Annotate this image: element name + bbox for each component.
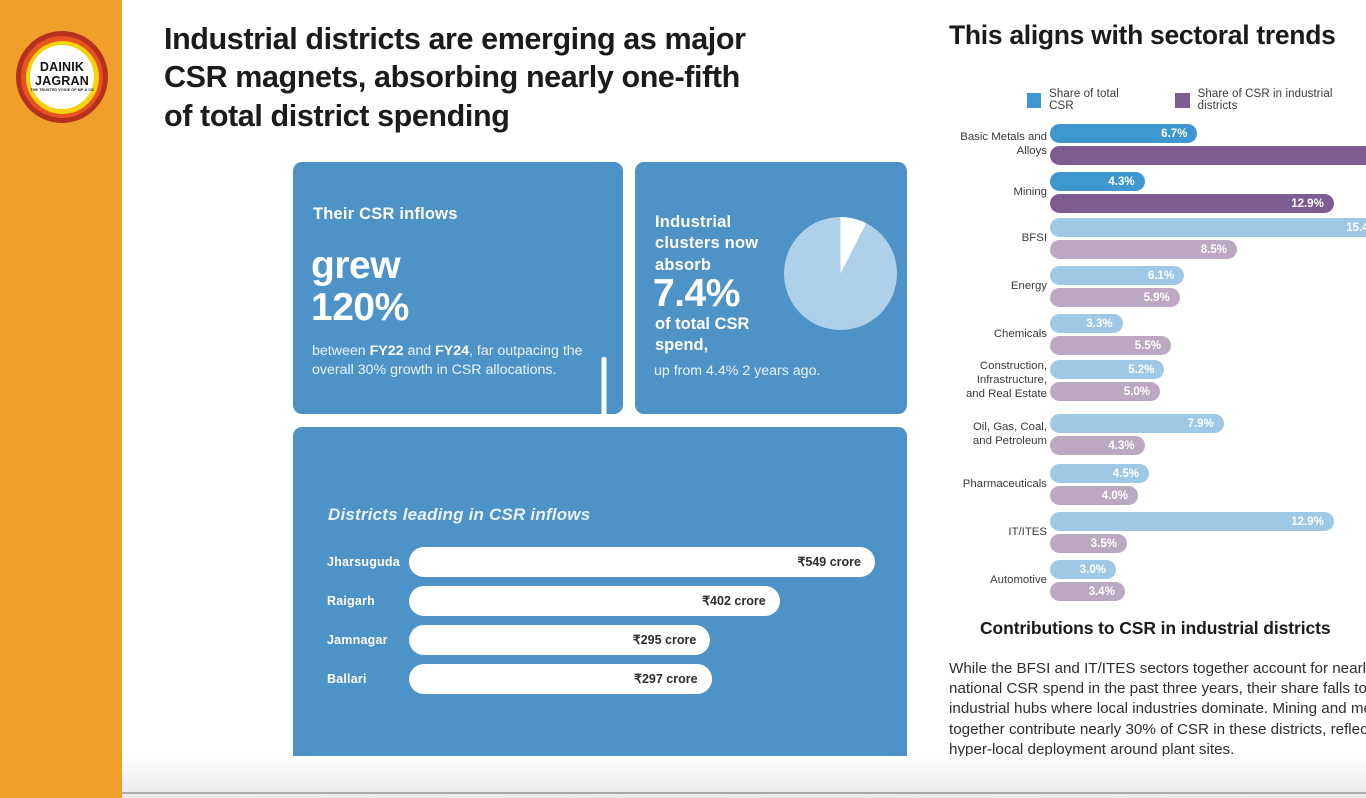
district-name: Jamnagar — [327, 633, 413, 647]
bar-total-csr: 6.7% — [1050, 124, 1197, 143]
legend-swatch-total-csr — [1027, 93, 1041, 108]
bar-value-label: 3.0% — [1080, 564, 1116, 576]
bar-value-label: 12.9% — [1291, 198, 1334, 210]
sector-group: Oil, Gas, Coal,and Petroleum7.9%4.3% — [949, 414, 1366, 458]
bar-industrial-csr: 3.4% — [1050, 582, 1125, 601]
sector-bars: 3.3%5.5% — [1050, 314, 1171, 358]
sector-label: Construction,Infrastructure,and Real Est… — [949, 360, 1047, 401]
bar-industrial-csr: 5.0% — [1050, 382, 1160, 401]
growth-foot-mid: and — [404, 343, 436, 359]
legend-item: Share of total CSR — [1027, 88, 1141, 112]
growth-fy-start: FY22 — [370, 343, 404, 359]
bar-industrial-csr: 8.5% — [1050, 240, 1237, 259]
district-row: Raigarh₹402 crore — [293, 581, 907, 620]
growth-foot-pre: between — [312, 343, 370, 359]
sector-bars: 4.3%12.9% — [1050, 172, 1334, 216]
card-csr-absorb: Industrial clusters now absorb 7.4% of t… — [635, 162, 907, 414]
bar-value-label: 12.9% — [1291, 516, 1334, 528]
growth-word-grew: grew — [311, 244, 400, 287]
district-name: Jharsuguda — [327, 555, 413, 569]
bar-value-label: 15.4% — [1346, 222, 1366, 234]
section-title-sectoral: This aligns with sectoral trends — [949, 20, 1336, 51]
district-bar: ₹295 crore — [409, 625, 710, 655]
card-csr-growth: Their CSR inflows grew 120% between FY22… — [293, 162, 623, 414]
brand-rail: DAINIK JAGRAN THE TRUSTED VOICE OF MP & … — [0, 0, 122, 798]
infographic-slide: DAINIK JAGRAN THE TRUSTED VOICE OF MP & … — [0, 0, 1366, 798]
districts-title: Districts leading in CSR inflows — [328, 505, 590, 525]
district-bar: ₹549 crore — [409, 547, 875, 577]
sector-label: Mining — [949, 186, 1047, 200]
sector-bars: 6.7%17.5% — [1050, 124, 1366, 168]
logo-ring-orange: DAINIK JAGRAN THE TRUSTED VOICE OF MP & … — [21, 36, 103, 118]
growth-lead: Their CSR inflows — [313, 204, 458, 225]
bar-value-label: 7.9% — [1188, 418, 1224, 430]
sector-bars: 6.1%5.9% — [1050, 266, 1184, 310]
sector-label: IT/ITES — [949, 526, 1047, 540]
logo-tagline: THE TRUSTED VOICE OF MP & CG — [30, 89, 93, 93]
legend-label: Share of CSR in industrial districts — [1198, 88, 1366, 112]
absorb-value: 7.4% — [653, 274, 740, 313]
sector-bars: 15.4%8.5% — [1050, 218, 1366, 262]
sector-bars: 3.0%3.4% — [1050, 560, 1125, 604]
bar-value-label: 4.3% — [1108, 176, 1144, 188]
bar-total-csr: 6.1% — [1050, 266, 1184, 285]
bar-value-label: 6.1% — [1148, 270, 1184, 282]
bar-value-label: 8.5% — [1201, 244, 1237, 256]
bar-industrial-csr: 5.5% — [1050, 336, 1171, 355]
bar-value-label: 6.7% — [1161, 128, 1197, 140]
bar-value-label: 4.5% — [1113, 468, 1149, 480]
bar-industrial-csr: 4.3% — [1050, 436, 1145, 455]
districts-bar-list: Jharsuguda₹549 croreRaigarh₹402 croreJam… — [293, 542, 907, 698]
slide-bottom-rule — [122, 792, 1366, 794]
bar-value-label: 3.5% — [1091, 538, 1127, 550]
legend-swatch-industrial-csr — [1175, 93, 1189, 108]
sector-label: Energy — [949, 280, 1047, 294]
bar-value-label: 5.2% — [1128, 364, 1164, 376]
district-row: Jharsuguda₹549 crore — [293, 542, 907, 581]
sector-group: Construction,Infrastructure,and Real Est… — [949, 360, 1366, 404]
sector-group: Pharmaceuticals4.5%4.0% — [949, 464, 1366, 508]
slide-canvas: Industrial districts are emerging as maj… — [122, 0, 1366, 798]
sector-bars: 5.2%5.0% — [1050, 360, 1164, 404]
sector-label: Basic Metals andAlloys — [949, 131, 1047, 158]
logo-core: DAINIK JAGRAN THE TRUSTED VOICE OF MP & … — [30, 45, 94, 109]
sector-group: Basic Metals andAlloys6.7%17.5% — [949, 124, 1366, 168]
card-districts: Districts leading in CSR inflows Jharsug… — [293, 427, 907, 772]
logo-text-line2: JAGRAN — [35, 75, 89, 88]
bar-total-csr: 15.4% — [1050, 218, 1366, 237]
growth-headline: grew 120% — [311, 245, 409, 329]
absorb-footnote: up from 4.4% 2 years ago. — [654, 362, 894, 381]
bar-total-csr: 3.3% — [1050, 314, 1123, 333]
district-value: ₹297 crore — [634, 671, 712, 686]
bar-total-csr: 4.3% — [1050, 172, 1145, 191]
bar-value-label: 5.9% — [1144, 292, 1180, 304]
contributions-body: While the BFSI and IT/ITES sectors toget… — [949, 659, 1366, 760]
chart-legend: Share of total CSRShare of CSR in indust… — [1027, 88, 1366, 112]
sector-label: Oil, Gas, Coal,and Petroleum — [949, 421, 1047, 448]
district-name: Raigarh — [327, 594, 413, 608]
sector-group: Energy6.1%5.9% — [949, 266, 1366, 310]
sector-bars: 7.9%4.3% — [1050, 414, 1224, 458]
bar-total-csr: 12.9% — [1050, 512, 1334, 531]
bar-total-csr: 5.2% — [1050, 360, 1164, 379]
sector-label: Pharmaceuticals — [949, 478, 1047, 492]
legend-item: Share of CSR in industrial districts — [1175, 88, 1366, 112]
growth-fy-end: FY24 — [435, 343, 469, 359]
bar-total-csr: 7.9% — [1050, 414, 1224, 433]
bar-value-label: 5.0% — [1124, 386, 1160, 398]
bar-value-label: 5.5% — [1135, 340, 1171, 352]
sector-bars: 12.9%3.5% — [1050, 512, 1334, 556]
absorb-lead: Industrial clusters now absorb — [655, 212, 785, 276]
sector-group: BFSI15.4%8.5% — [949, 218, 1366, 262]
sector-group: Chemicals3.3%5.5% — [949, 314, 1366, 358]
logo-text-line1: DAINIK — [40, 61, 84, 74]
page-title: Industrial districts are emerging as maj… — [164, 20, 764, 135]
district-value: ₹402 crore — [702, 593, 780, 608]
bar-total-csr: 4.5% — [1050, 464, 1149, 483]
dainik-jagran-logo: DAINIK JAGRAN THE TRUSTED VOICE OF MP & … — [16, 31, 108, 123]
district-bar: ₹402 crore — [409, 586, 780, 616]
district-name: Ballari — [327, 672, 413, 686]
bar-value-label: 3.3% — [1086, 318, 1122, 330]
bar-total-csr: 3.0% — [1050, 560, 1116, 579]
bar-industrial-csr: 17.5% — [1050, 146, 1366, 165]
district-row: Jamnagar₹295 crore — [293, 620, 907, 659]
growth-footnote: between FY22 and FY24, far outpacing the… — [312, 342, 612, 381]
bar-industrial-csr: 4.0% — [1050, 486, 1138, 505]
contributions-title: Contributions to CSR in industrial distr… — [980, 618, 1330, 639]
bar-value-label: 3.4% — [1089, 586, 1125, 598]
sector-label: Chemicals — [949, 328, 1047, 342]
district-value: ₹295 crore — [633, 632, 711, 647]
growth-value: 120% — [311, 286, 409, 329]
absorb-mid: of total CSR spend, — [655, 314, 795, 357]
bar-industrial-csr: 12.9% — [1050, 194, 1334, 213]
logo-ring-yellow: DAINIK JAGRAN THE TRUSTED VOICE OF MP & … — [26, 41, 99, 114]
bar-industrial-csr: 5.9% — [1050, 288, 1180, 307]
sector-group: Mining4.3%12.9% — [949, 172, 1366, 216]
district-row: Ballari₹297 crore — [293, 659, 907, 698]
absorb-pie-chart — [784, 217, 897, 330]
legend-label: Share of total CSR — [1049, 88, 1141, 112]
bar-value-label: 4.0% — [1102, 490, 1138, 502]
bar-industrial-csr: 3.5% — [1050, 534, 1127, 553]
sector-label: Automotive — [949, 574, 1047, 588]
sector-bars: 4.5%4.0% — [1050, 464, 1149, 508]
bar-value-label: 4.3% — [1108, 440, 1144, 452]
sectoral-bar-chart: Basic Metals andAlloys6.7%17.5%Mining4.3… — [949, 118, 1366, 598]
sector-label: BFSI — [949, 232, 1047, 246]
district-bar: ₹297 crore — [409, 664, 712, 694]
sector-group: IT/ITES12.9%3.5% — [949, 512, 1366, 556]
sector-group: Automotive3.0%3.4% — [949, 560, 1366, 604]
district-value: ₹549 crore — [797, 554, 875, 569]
